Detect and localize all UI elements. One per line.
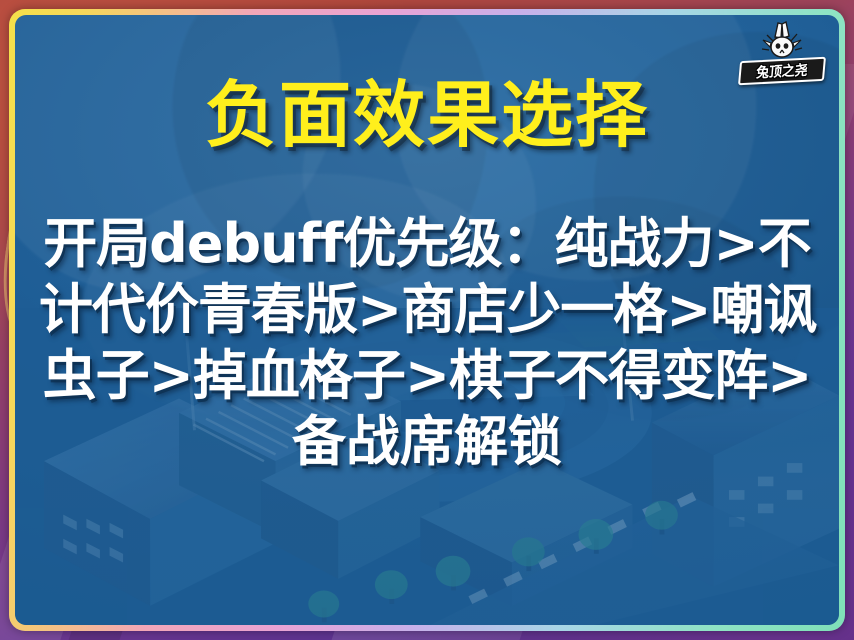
body-text-line: 虫子>掉血格子>棋子不得变阵>	[39, 343, 815, 409]
slide-body-text: 开局debuff优先级：纯战力>不 计代价青春版>商店少一格>嘲讽 虫子>掉血格…	[39, 211, 815, 475]
body-text-line: 计代价青春版>商店少一格>嘲讽	[39, 277, 815, 343]
body-text-line: 开局debuff优先级：纯战力>不	[39, 211, 815, 277]
slide-title: 负面效果选择	[15, 79, 839, 151]
channel-logo-watermark: 兔顶之尧	[739, 21, 825, 83]
gradient-frame-border: 兔顶之尧 负面效果选择 开局debuff优先级：纯战力>不 计代价青春版>商店少…	[9, 9, 845, 631]
rabbit-mascot-icon	[759, 21, 805, 61]
logo-text-banner: 兔顶之尧	[738, 57, 825, 85]
logo-text: 兔顶之尧	[741, 57, 822, 85]
body-text-line: 备战席解锁	[39, 409, 815, 475]
slide-panel: 兔顶之尧 负面效果选择 开局debuff优先级：纯战力>不 计代价青春版>商店少…	[15, 15, 839, 625]
